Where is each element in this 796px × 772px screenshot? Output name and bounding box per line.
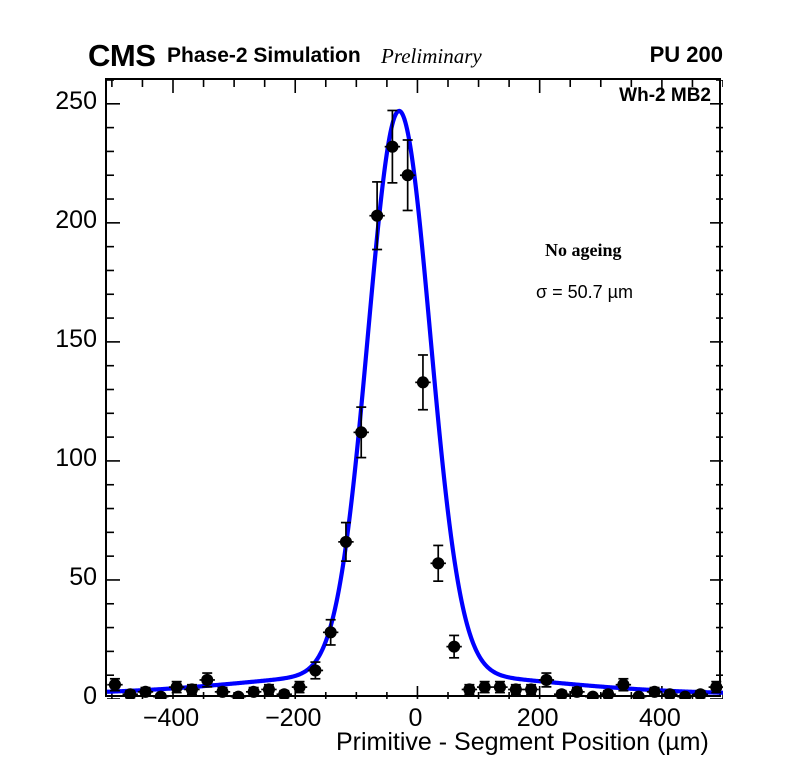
x-tick-label: −400 [116,706,226,731]
pileup-label: PU 200 [650,44,723,66]
y-tick-label: 200 [7,208,97,233]
plot-area: Wh-2 MB2 No ageing σ = 50.7 µm [105,78,721,697]
y-axis-title: Events [0,74,1,150]
chart-header: CMS Phase-2 Simulation Preliminary PU 20… [0,0,796,78]
preliminary-label: Preliminary [381,46,482,67]
x-tick-label: 0 [360,706,470,731]
y-tick-label: 250 [7,89,97,114]
y-tick-label: 150 [7,327,97,352]
annotation-sigma: σ = 50.7 µm [536,283,633,301]
plot-canvas [107,80,723,699]
y-tick-label: 100 [7,446,97,471]
annotation-no-ageing: No ageing [545,241,622,259]
x-tick-label: 400 [605,706,715,731]
x-axis-title: Primitive - Segment Position (µm) [336,730,709,755]
x-tick-label: 200 [483,706,593,731]
x-tick-label: −200 [238,706,348,731]
chart-page: CMS Phase-2 Simulation Preliminary PU 20… [0,0,796,772]
y-tick-label: 50 [7,565,97,590]
y-tick-label: 0 [7,684,97,709]
phase-label: Phase-2 Simulation [167,45,361,66]
cms-logo-text: CMS [88,40,155,71]
region-label: Wh-2 MB2 [619,86,711,105]
